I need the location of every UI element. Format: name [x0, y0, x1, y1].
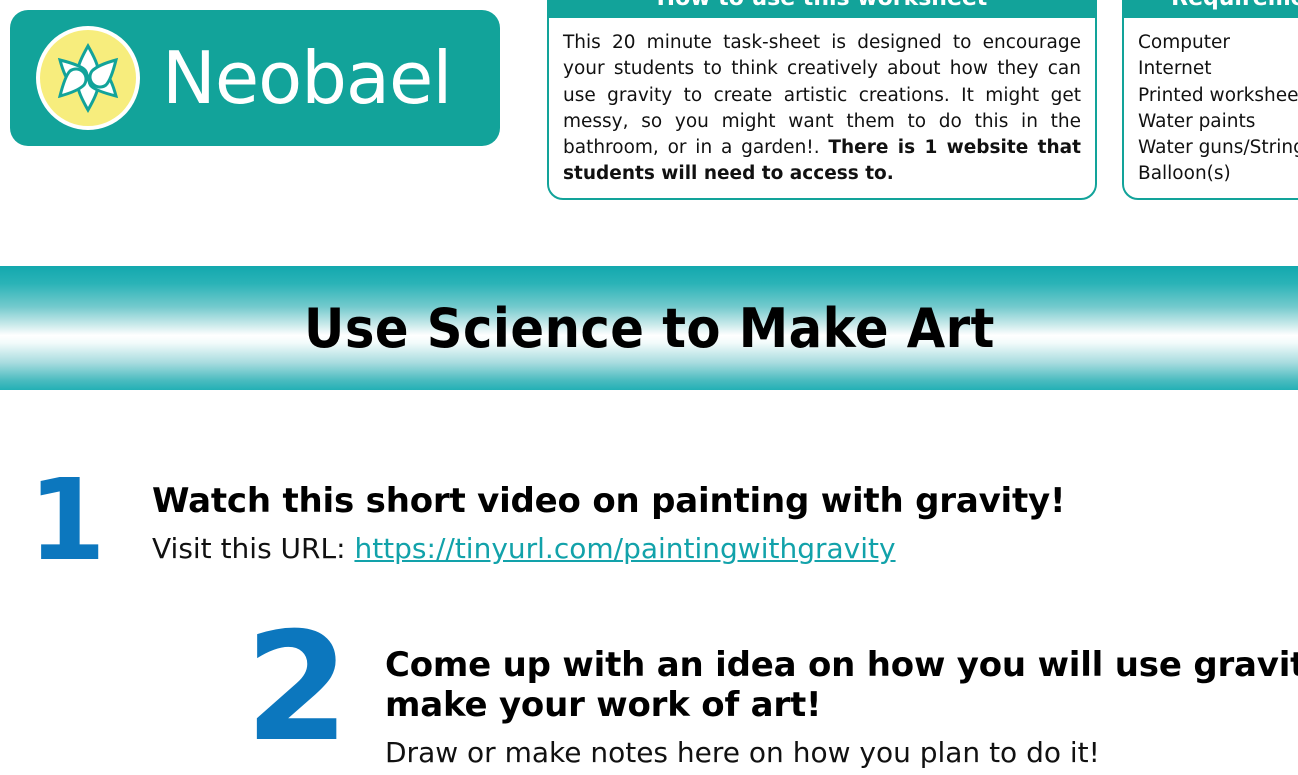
worksheet-title: Use Science to Make Art: [304, 297, 995, 360]
requirements-item: Printed worksheet: [1138, 83, 1298, 109]
requirements-item: Computer: [1138, 30, 1298, 56]
requirements-box: Requirements Computer Internet Printed w…: [1122, 0, 1298, 200]
how-to-use-worksheet-body: This 20 minute task-sheet is designed to…: [549, 18, 1095, 198]
requirements-item: Balloon(s): [1138, 161, 1298, 187]
step-1-url-link[interactable]: https://tinyurl.com/paintingwithgravity: [354, 532, 895, 565]
requirements-item: Internet: [1138, 56, 1298, 82]
step-1-instruction-prefix: Visit this URL:: [152, 532, 354, 565]
step-1-instruction: Visit this URL: https://tinyurl.com/pain…: [152, 531, 1298, 566]
brand-name: Neobael: [162, 42, 451, 114]
step-2-body: Come up with an idea on how you will use…: [385, 628, 1298, 770]
requirements-title: Requirements: [1124, 0, 1298, 18]
step-2-number: 2: [245, 622, 375, 754]
brand-logo-block: Neobael: [10, 10, 500, 146]
requirements-item: Water guns/String: [1138, 135, 1298, 161]
lemon-slice-icon: [32, 22, 144, 134]
step-1-body: Watch this short video on painting with …: [152, 470, 1298, 566]
how-to-use-worksheet-box: How to use this worksheet This 20 minute…: [547, 0, 1097, 200]
worksheet-title-banner: Use Science to Make Art: [0, 266, 1298, 390]
step-2-heading: Come up with an idea on how you will use…: [385, 646, 1298, 726]
requirements-list: Computer Internet Printed worksheet Wate…: [1124, 18, 1298, 198]
requirements-item: Water paints: [1138, 109, 1298, 135]
step-1-heading: Watch this short video on painting with …: [152, 482, 1298, 522]
how-to-use-worksheet-title: How to use this worksheet: [549, 0, 1095, 18]
step-1: 1 Watch this short video on painting wit…: [28, 470, 1298, 571]
step-2: 2 Come up with an idea on how you will u…: [245, 628, 1298, 770]
step-1-number: 1: [28, 472, 140, 571]
step-2-instruction: Draw or make notes here on how you plan …: [385, 735, 1298, 770]
